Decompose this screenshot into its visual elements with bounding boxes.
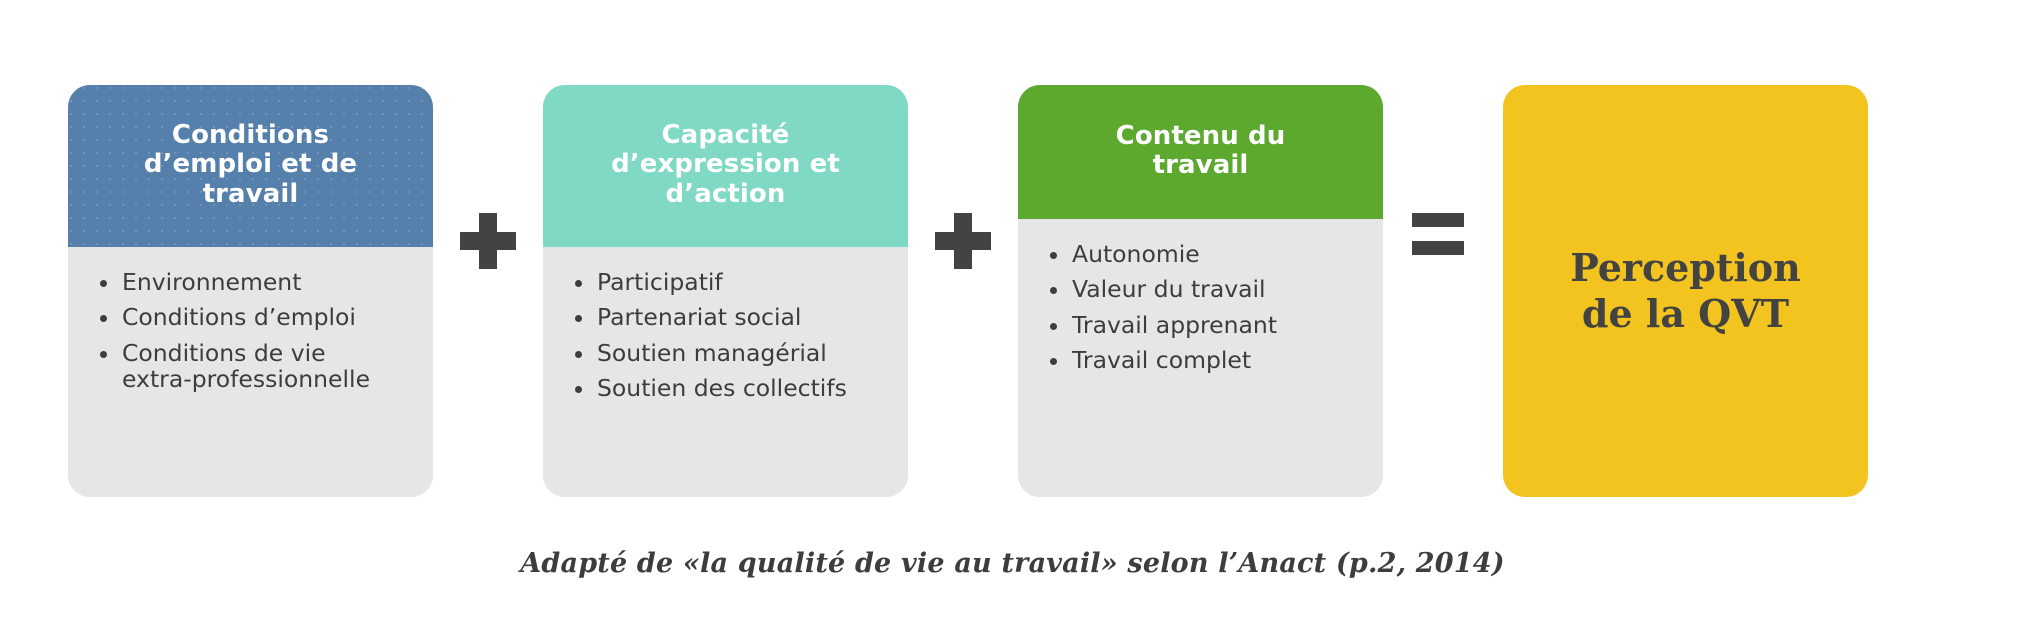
- list-item-line: Travail apprenant: [1072, 312, 1367, 338]
- cards-row: Conditions d’emploi et de travail Enviro…: [0, 85, 2025, 497]
- equals-icon-bar-bottom: [1412, 241, 1464, 255]
- card-body-capacite-expression-action: Participatif Partenariat social Soutien …: [543, 247, 908, 497]
- card-contenu-du-travail: Contenu du travail Autonomie Valeur du t…: [1018, 85, 1383, 497]
- list-item-line: extra-professionnelle: [122, 366, 417, 392]
- operator-plus-2: [935, 213, 991, 269]
- result-label-line: de la QVT: [1570, 291, 1801, 337]
- equals-icon-bar-top: [1412, 213, 1464, 227]
- card-header-capacite-expression-action: Capacité d’expression et d’action: [543, 85, 908, 247]
- result-label: Perception de la QVT: [1556, 245, 1815, 338]
- plus-icon-bar-vertical: [954, 213, 972, 269]
- diagram-caption: Adapté de «la qualité de vie au travail»…: [0, 548, 2025, 579]
- card-body-conditions-emploi-travail: Environnement Conditions d’emploi Condit…: [68, 247, 433, 497]
- list-item: Autonomie: [1046, 241, 1367, 267]
- list-item: Conditions de vie extra-professionnelle: [96, 340, 417, 393]
- plus-icon: [935, 213, 991, 269]
- card-capacite-expression-action: Capacité d’expression et d’action Partic…: [543, 85, 908, 497]
- card-header-line: travail: [144, 180, 357, 209]
- card-conditions-emploi-travail: Conditions d’emploi et de travail Enviro…: [68, 85, 433, 497]
- list-item-line: Partenariat social: [597, 304, 892, 330]
- list-item: Travail apprenant: [1046, 312, 1367, 338]
- list-item-line: Valeur du travail: [1072, 276, 1367, 302]
- card-perception-qvt: Perception de la QVT: [1503, 85, 1868, 497]
- left-gutter: [0, 85, 68, 86]
- plus-icon-bar-vertical: [479, 213, 497, 269]
- bullet-list: Autonomie Valeur du travail Travail appr…: [1046, 241, 1367, 373]
- list-item: Partenariat social: [571, 304, 892, 330]
- card-header-line: d’expression et: [611, 150, 840, 179]
- card-header-line: travail: [1116, 151, 1286, 180]
- card-header-line: Contenu du: [1116, 122, 1286, 151]
- result-label-line: Perception: [1570, 245, 1801, 291]
- operator-equals: [1412, 213, 1464, 257]
- card-header-conditions-emploi-travail: Conditions d’emploi et de travail: [68, 85, 433, 247]
- card-header-line: d’emploi et de: [144, 150, 357, 179]
- list-item: Soutien managérial: [571, 340, 892, 366]
- list-item-line: Soutien des collectifs: [597, 375, 892, 401]
- operator-plus-2-slot: [908, 85, 1018, 497]
- plus-icon: [460, 213, 516, 269]
- operator-plus-1: [460, 213, 516, 269]
- list-item-line: Autonomie: [1072, 241, 1367, 267]
- list-item-line: Travail complet: [1072, 347, 1367, 373]
- list-item: Soutien des collectifs: [571, 375, 892, 401]
- list-item: Travail complet: [1046, 347, 1367, 373]
- card-header-line: Capacité: [611, 121, 840, 150]
- list-item: Participatif: [571, 269, 892, 295]
- qvt-diagram: Conditions d’emploi et de travail Enviro…: [0, 0, 2025, 621]
- list-item-line: Conditions de vie: [122, 340, 417, 366]
- pre-result-gutter: [1493, 85, 1503, 86]
- equals-icon: [1412, 213, 1464, 257]
- card-header-line: Conditions: [144, 121, 357, 150]
- card-header-line: d’action: [611, 180, 840, 209]
- card-header-contenu-du-travail: Contenu du travail: [1018, 85, 1383, 219]
- operator-equals-slot: [1383, 85, 1493, 497]
- list-item: Environnement: [96, 269, 417, 295]
- operator-plus-1-slot: [433, 85, 543, 497]
- bullet-list: Environnement Conditions d’emploi Condit…: [96, 269, 417, 392]
- card-header-text: Capacité d’expression et d’action: [611, 121, 840, 208]
- list-item: Conditions d’emploi: [96, 304, 417, 330]
- list-item-line: Conditions d’emploi: [122, 304, 417, 330]
- list-item-line: Soutien managérial: [597, 340, 892, 366]
- bullet-list: Participatif Partenariat social Soutien …: [571, 269, 892, 401]
- list-item-line: Participatif: [597, 269, 892, 295]
- card-header-text: Conditions d’emploi et de travail: [144, 121, 357, 208]
- card-body-contenu-du-travail: Autonomie Valeur du travail Travail appr…: [1018, 219, 1383, 497]
- list-item-line: Environnement: [122, 269, 417, 295]
- card-header-text: Contenu du travail: [1116, 122, 1286, 180]
- list-item: Valeur du travail: [1046, 276, 1367, 302]
